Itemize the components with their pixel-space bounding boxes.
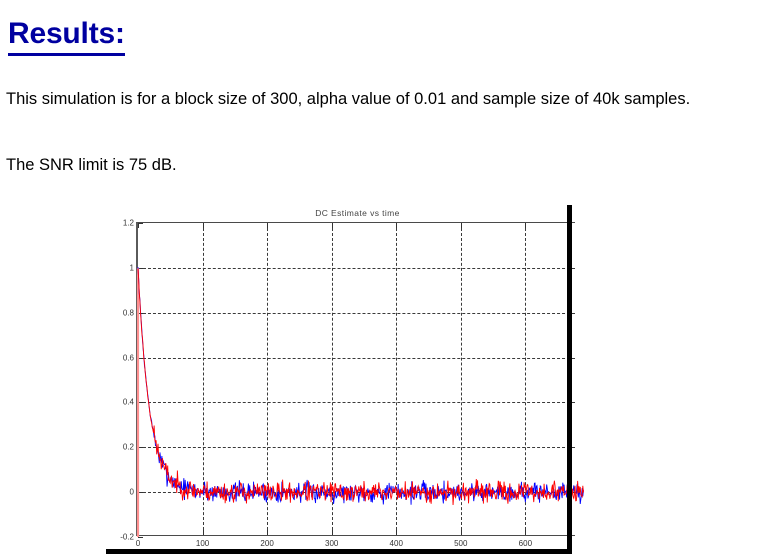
x-tick-label: 600 [519, 539, 532, 548]
page-title-text: Results: [8, 17, 125, 56]
y-tick-label: 1 [130, 263, 134, 272]
y-tick-label: 0.8 [123, 308, 134, 317]
figure-right-border [567, 205, 572, 550]
x-tick-label: 200 [260, 539, 273, 548]
x-tick-label: 500 [454, 539, 467, 548]
y-tick-label: 1.2 [123, 219, 134, 228]
paragraph-snr-limit: The SNR limit is 75 dB. [6, 153, 751, 178]
plot-area: DC Estimate vs time -0.200.20.40.60.811.… [136, 222, 575, 536]
x-tick-label: 300 [325, 539, 338, 548]
chart-title: DC Estimate vs time [138, 208, 577, 218]
series-estimate-blue [138, 267, 583, 505]
x-tick-label: 100 [196, 539, 209, 548]
x-tick-label: 0 [136, 539, 140, 548]
y-tick-label: -0.2 [120, 533, 134, 542]
paragraph-simulation-parameters: This simulation is for a block size of 3… [6, 87, 751, 112]
y-tick-label: 0.4 [123, 398, 134, 407]
y-tick-label: 0 [130, 488, 134, 497]
y-tick-label: 0.6 [123, 353, 134, 362]
x-tick-label: 400 [390, 539, 403, 548]
page-title: Results: [8, 19, 125, 49]
figure-bottom-border [106, 549, 572, 554]
y-tick-mark [138, 537, 143, 538]
plot-series-layer [138, 223, 577, 537]
y-tick-label: 0.2 [123, 443, 134, 452]
chart-figure: DC Estimate vs time -0.200.20.40.60.811.… [108, 205, 573, 554]
series-estimate-red [138, 269, 583, 505]
